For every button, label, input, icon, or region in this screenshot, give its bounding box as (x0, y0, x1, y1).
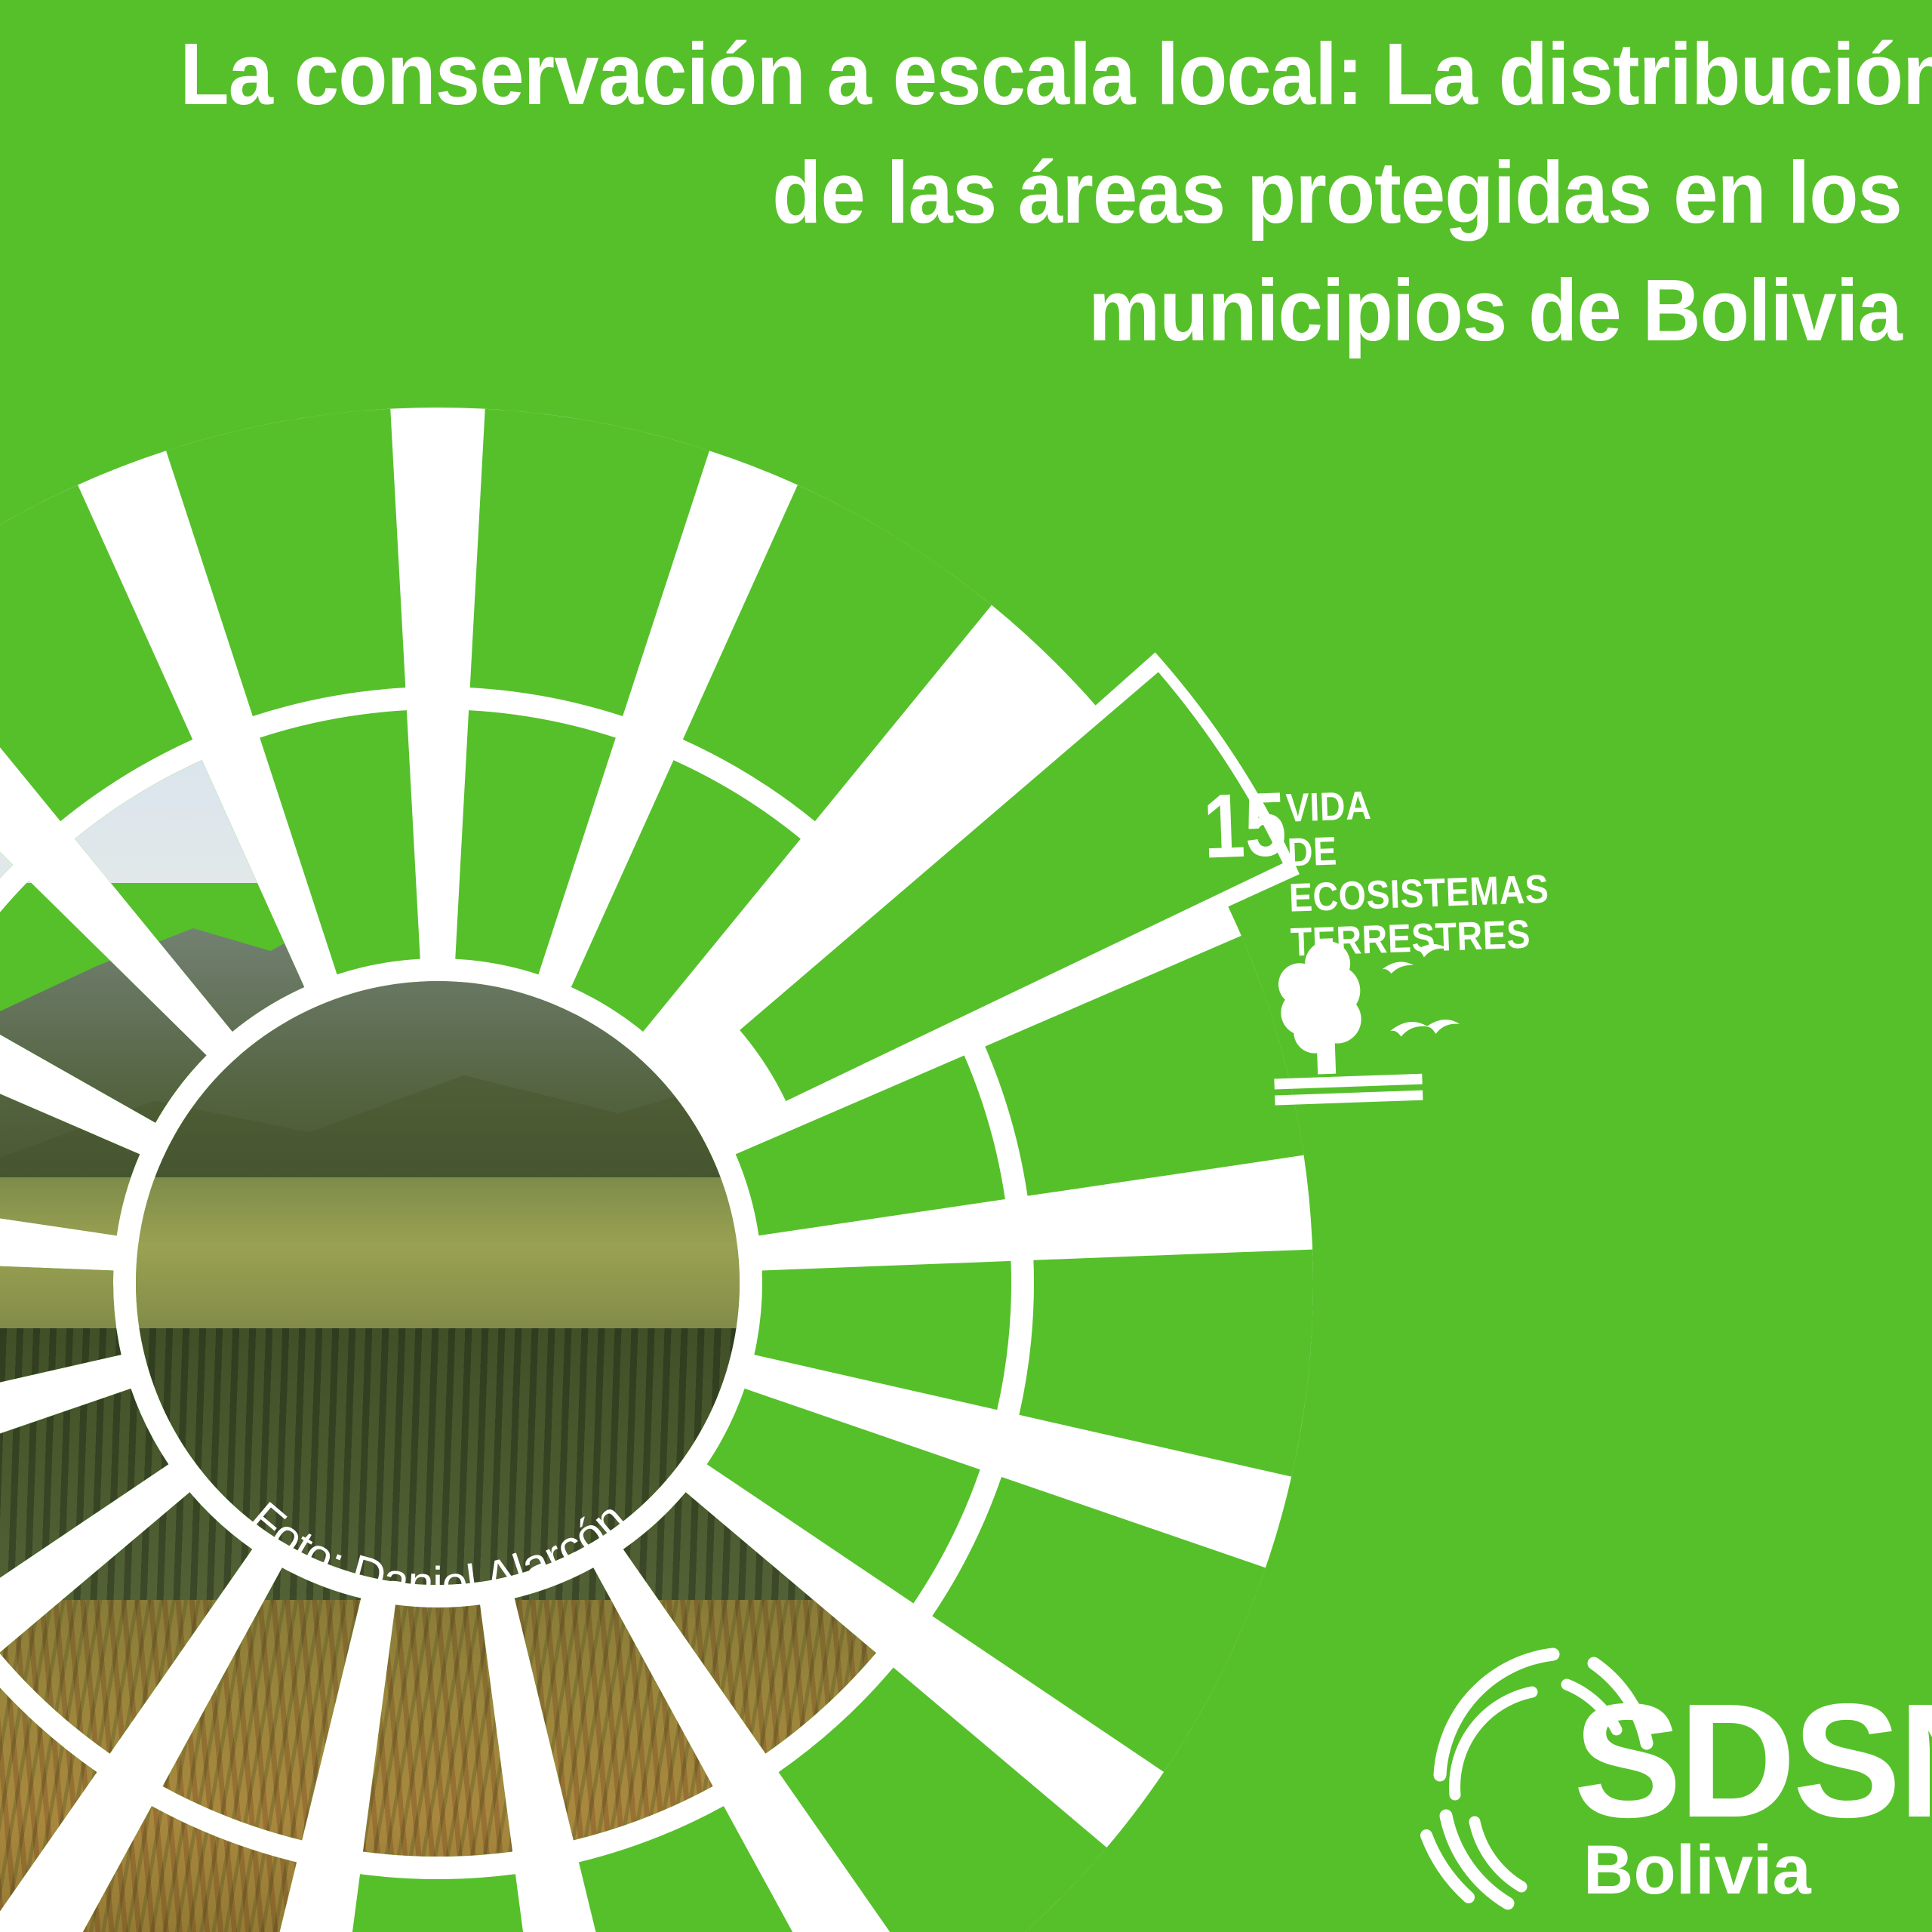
title-line-2: de las áreas protegidas en los (180, 134, 1902, 252)
sdsn-wordmark: SDSN (1574, 1679, 1932, 1841)
sdg-label-line-2: DE ECOSISTEMAS (1287, 823, 1503, 920)
page-title: La conservación a escala local: La distr… (180, 15, 1902, 370)
title-line-1: La conservación a escala local: La distr… (180, 15, 1902, 134)
title-line-3: municipios de Bolivia (180, 251, 1902, 370)
sdg-number: 15 (1202, 779, 1288, 872)
sdg-15-badge: 15 VIDA DE ECOSISTEMAS TERRESTRES (1201, 764, 1537, 1115)
sdg-label-line-1: VIDA (1285, 779, 1500, 831)
sdsn-sub-label: Bolivia (1583, 1835, 1811, 1905)
sdsn-bolivia-logo: SDSN Bolivia (1419, 1638, 1917, 1932)
poster-canvas: Foto: Daniel Alarcón La conservación a e… (0, 0, 1932, 1932)
tree-and-birds-icon (1268, 935, 1500, 1105)
